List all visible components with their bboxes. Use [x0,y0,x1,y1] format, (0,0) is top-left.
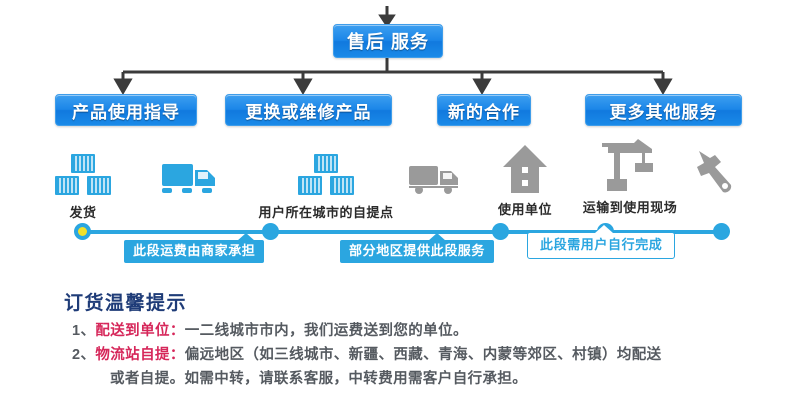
node-replace-or-repair[interactable]: 更换或维修产品 [225,94,392,126]
notes-title: 订货温馨提示 [64,288,187,315]
stage-transport-blue [150,148,230,202]
note-2-text-line2: 或者自提。如需中转，请联系客服，中转费用需客户自行承担。 [110,371,527,387]
timeline-dot-1 [263,224,278,239]
truck-icon [395,148,475,198]
stage-pickup-point: 用户所在城市的自提点 [251,148,401,221]
callout-tail-icon [428,233,446,241]
note-item-1: 1、配送到单位：一二线城市市内，我们运费送到您的单位。 [72,320,468,342]
root-node-after-sales-service[interactable]: 售后 服务 [333,24,443,58]
stage-label-shipping: 发货 [43,202,123,221]
note-1-number: 1、 [72,323,95,339]
timeline-dot-2 [493,224,508,239]
stage-installation [680,145,750,199]
callout-tail-icon [595,225,613,233]
callout-tail-icon [237,233,255,241]
truck-icon [150,148,230,198]
stage-transport-gray [395,148,475,202]
note-item-2: 2、物流站自提：偏远地区（如三线城市、新疆、西藏、青海、内蒙等郊区、村镇）均配送 [72,344,662,366]
stage-label-transport-to-site: 运输到使用现场 [570,197,690,216]
callout-merchant-pays-freight: 此段运费由商家承担 [124,240,264,263]
containers-icon [251,148,401,198]
house-icon [480,145,570,195]
note-1-text: 一二线城市市内，我们运费送到您的单位。 [185,323,468,339]
callout-user-completes: 此段需用户自行完成 [527,232,675,259]
stage-label-using-unit: 使用单位 [480,199,570,218]
timeline-dot-4 [714,224,729,239]
stage-shipping: 发货 [43,148,123,221]
note-2-text: 偏远地区（如三线城市、新疆、西藏、青海、内蒙等郊区、村镇）均配送 [185,347,662,363]
crane-icon [570,143,690,193]
node-new-cooperation[interactable]: 新的合作 [437,94,531,126]
containers-icon [43,148,123,198]
wrench-icon [680,145,750,195]
node-more-other-services[interactable]: 更多其他服务 [585,94,742,126]
node-product-usage-guidance[interactable]: 产品使用指导 [55,94,197,126]
timeline-dot-0 [75,224,90,239]
callout-partial-region-service: 部分地区提供此段服务 [340,240,494,263]
note-1-key: 配送到单位： [95,323,184,339]
stage-label-pickup-point: 用户所在城市的自提点 [251,202,401,221]
stage-using-unit: 使用单位 [480,145,570,218]
note-2-key: 物流站自提： [95,347,184,363]
stage-transport-to-site: 运输到使用现场 [570,143,690,216]
after-sales-service-infographic: 售后 服务 产品使用指导 更换或维修产品 新的合作 更多其他服务 [0,0,790,412]
note-2-number: 2、 [72,347,95,363]
note-item-2-continued: 或者自提。如需中转，请联系客服，中转费用需客户自行承担。 [110,368,527,390]
